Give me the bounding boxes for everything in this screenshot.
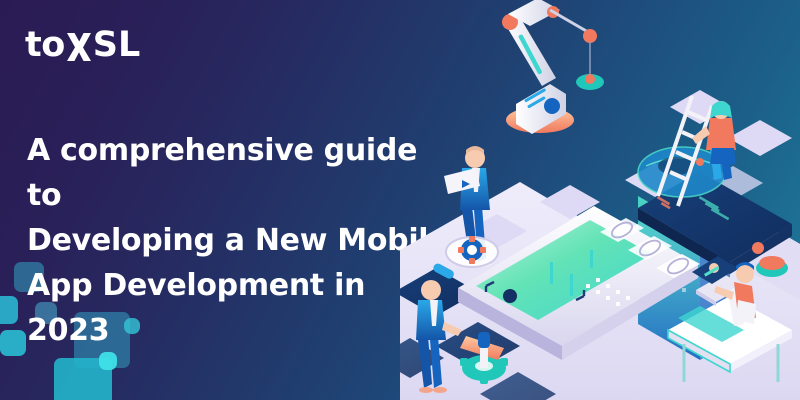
decor-square-outer-small xyxy=(0,330,26,356)
hero-illustration xyxy=(400,0,800,400)
page-title: A comprehensive guide to Developing a Ne… xyxy=(27,128,457,353)
brand-logo-suffix: SL xyxy=(93,28,141,63)
decor-square-bright-cyan xyxy=(99,352,117,370)
brand-logo[interactable]: toSL xyxy=(25,28,140,63)
brand-logo-x-mark xyxy=(66,30,92,62)
decor-square-edge-left xyxy=(0,296,18,324)
robotic-arm xyxy=(502,0,604,134)
brand-logo-prefix: to xyxy=(25,28,65,63)
hero-banner: toSL A comprehensive guide to Developing… xyxy=(0,0,800,400)
